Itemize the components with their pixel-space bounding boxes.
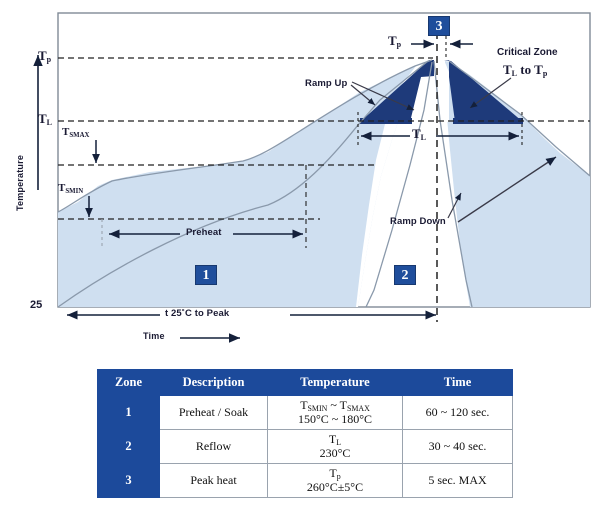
temp-symbolic: Tp bbox=[269, 467, 401, 480]
ramp-up-label: Ramp Up bbox=[305, 78, 347, 89]
tick-label-tp: Tp bbox=[38, 48, 51, 64]
cell-temperature: TSMIN ~ TSMAX 150°C ~ 180°C bbox=[268, 396, 403, 430]
zone-badge-3: 3 bbox=[428, 16, 450, 36]
reflow-profile-figure: Temperature Time Tp TL 25 TSMAX TSMIN Ra… bbox=[0, 0, 602, 525]
t25-to-peak-label: t 25˚C to Peak bbox=[165, 308, 229, 319]
cell-zone: 2 bbox=[98, 430, 160, 464]
col-header-temperature: Temperature bbox=[268, 370, 403, 396]
cell-description: Peak heat bbox=[160, 464, 268, 498]
table-row: 2 Reflow TL 230°C 30 ~ 40 sec. bbox=[98, 430, 513, 464]
cell-description: Preheat / Soak bbox=[160, 396, 268, 430]
tp-span-label: Tp bbox=[388, 33, 401, 49]
col-header-time: Time bbox=[403, 370, 513, 396]
col-header-zone: Zone bbox=[98, 370, 160, 396]
col-header-description: Description bbox=[160, 370, 268, 396]
preheat-label: Preheat bbox=[186, 227, 222, 238]
cell-time: 60 ~ 120 sec. bbox=[403, 396, 513, 430]
temp-numeric: 260°C±5°C bbox=[269, 481, 401, 494]
tick-label-25: 25 bbox=[30, 299, 42, 311]
zone-badge-1: 1 bbox=[195, 265, 217, 285]
temp-numeric: 150°C ~ 180°C bbox=[269, 413, 401, 426]
cell-zone: 3 bbox=[98, 464, 160, 498]
critical-zone-label: Critical Zone bbox=[497, 47, 558, 58]
tick-label-tl: TL bbox=[38, 111, 52, 127]
tsmin-label: TSMIN bbox=[58, 182, 83, 194]
cell-time: 5 sec. MAX bbox=[403, 464, 513, 498]
reflow-profile-chart: Temperature Time Tp TL 25 TSMAX TSMIN Ra… bbox=[0, 0, 602, 360]
reflow-spec-table: Zone Description Temperature Time 1 Preh… bbox=[97, 369, 513, 498]
cell-description: Reflow bbox=[160, 430, 268, 464]
y-axis-title: Temperature bbox=[15, 143, 25, 223]
tl-span-label: TL bbox=[412, 126, 426, 142]
ramp-down-label: Ramp Down bbox=[390, 216, 446, 227]
critical-zone-base-left bbox=[360, 118, 412, 124]
critical-zone-range-label: TL to Tp bbox=[503, 62, 547, 78]
table-row: 1 Preheat / Soak TSMIN ~ TSMAX 150°C ~ 1… bbox=[98, 396, 513, 430]
cell-time: 30 ~ 40 sec. bbox=[403, 430, 513, 464]
x-axis-title: Time bbox=[143, 331, 165, 341]
tsmax-label: TSMAX bbox=[62, 126, 89, 138]
temp-symbolic: TL bbox=[269, 433, 401, 446]
table-row: 3 Peak heat Tp 260°C±5°C 5 sec. MAX bbox=[98, 464, 513, 498]
cell-temperature: TL 230°C bbox=[268, 430, 403, 464]
temp-symbolic: TSMIN ~ TSMAX bbox=[269, 399, 401, 412]
temp-numeric: 230°C bbox=[269, 447, 401, 460]
cell-zone: 1 bbox=[98, 396, 160, 430]
zone-badge-2: 2 bbox=[394, 265, 416, 285]
cell-temperature: Tp 260°C±5°C bbox=[268, 464, 403, 498]
table-header-row: Zone Description Temperature Time bbox=[98, 370, 513, 396]
